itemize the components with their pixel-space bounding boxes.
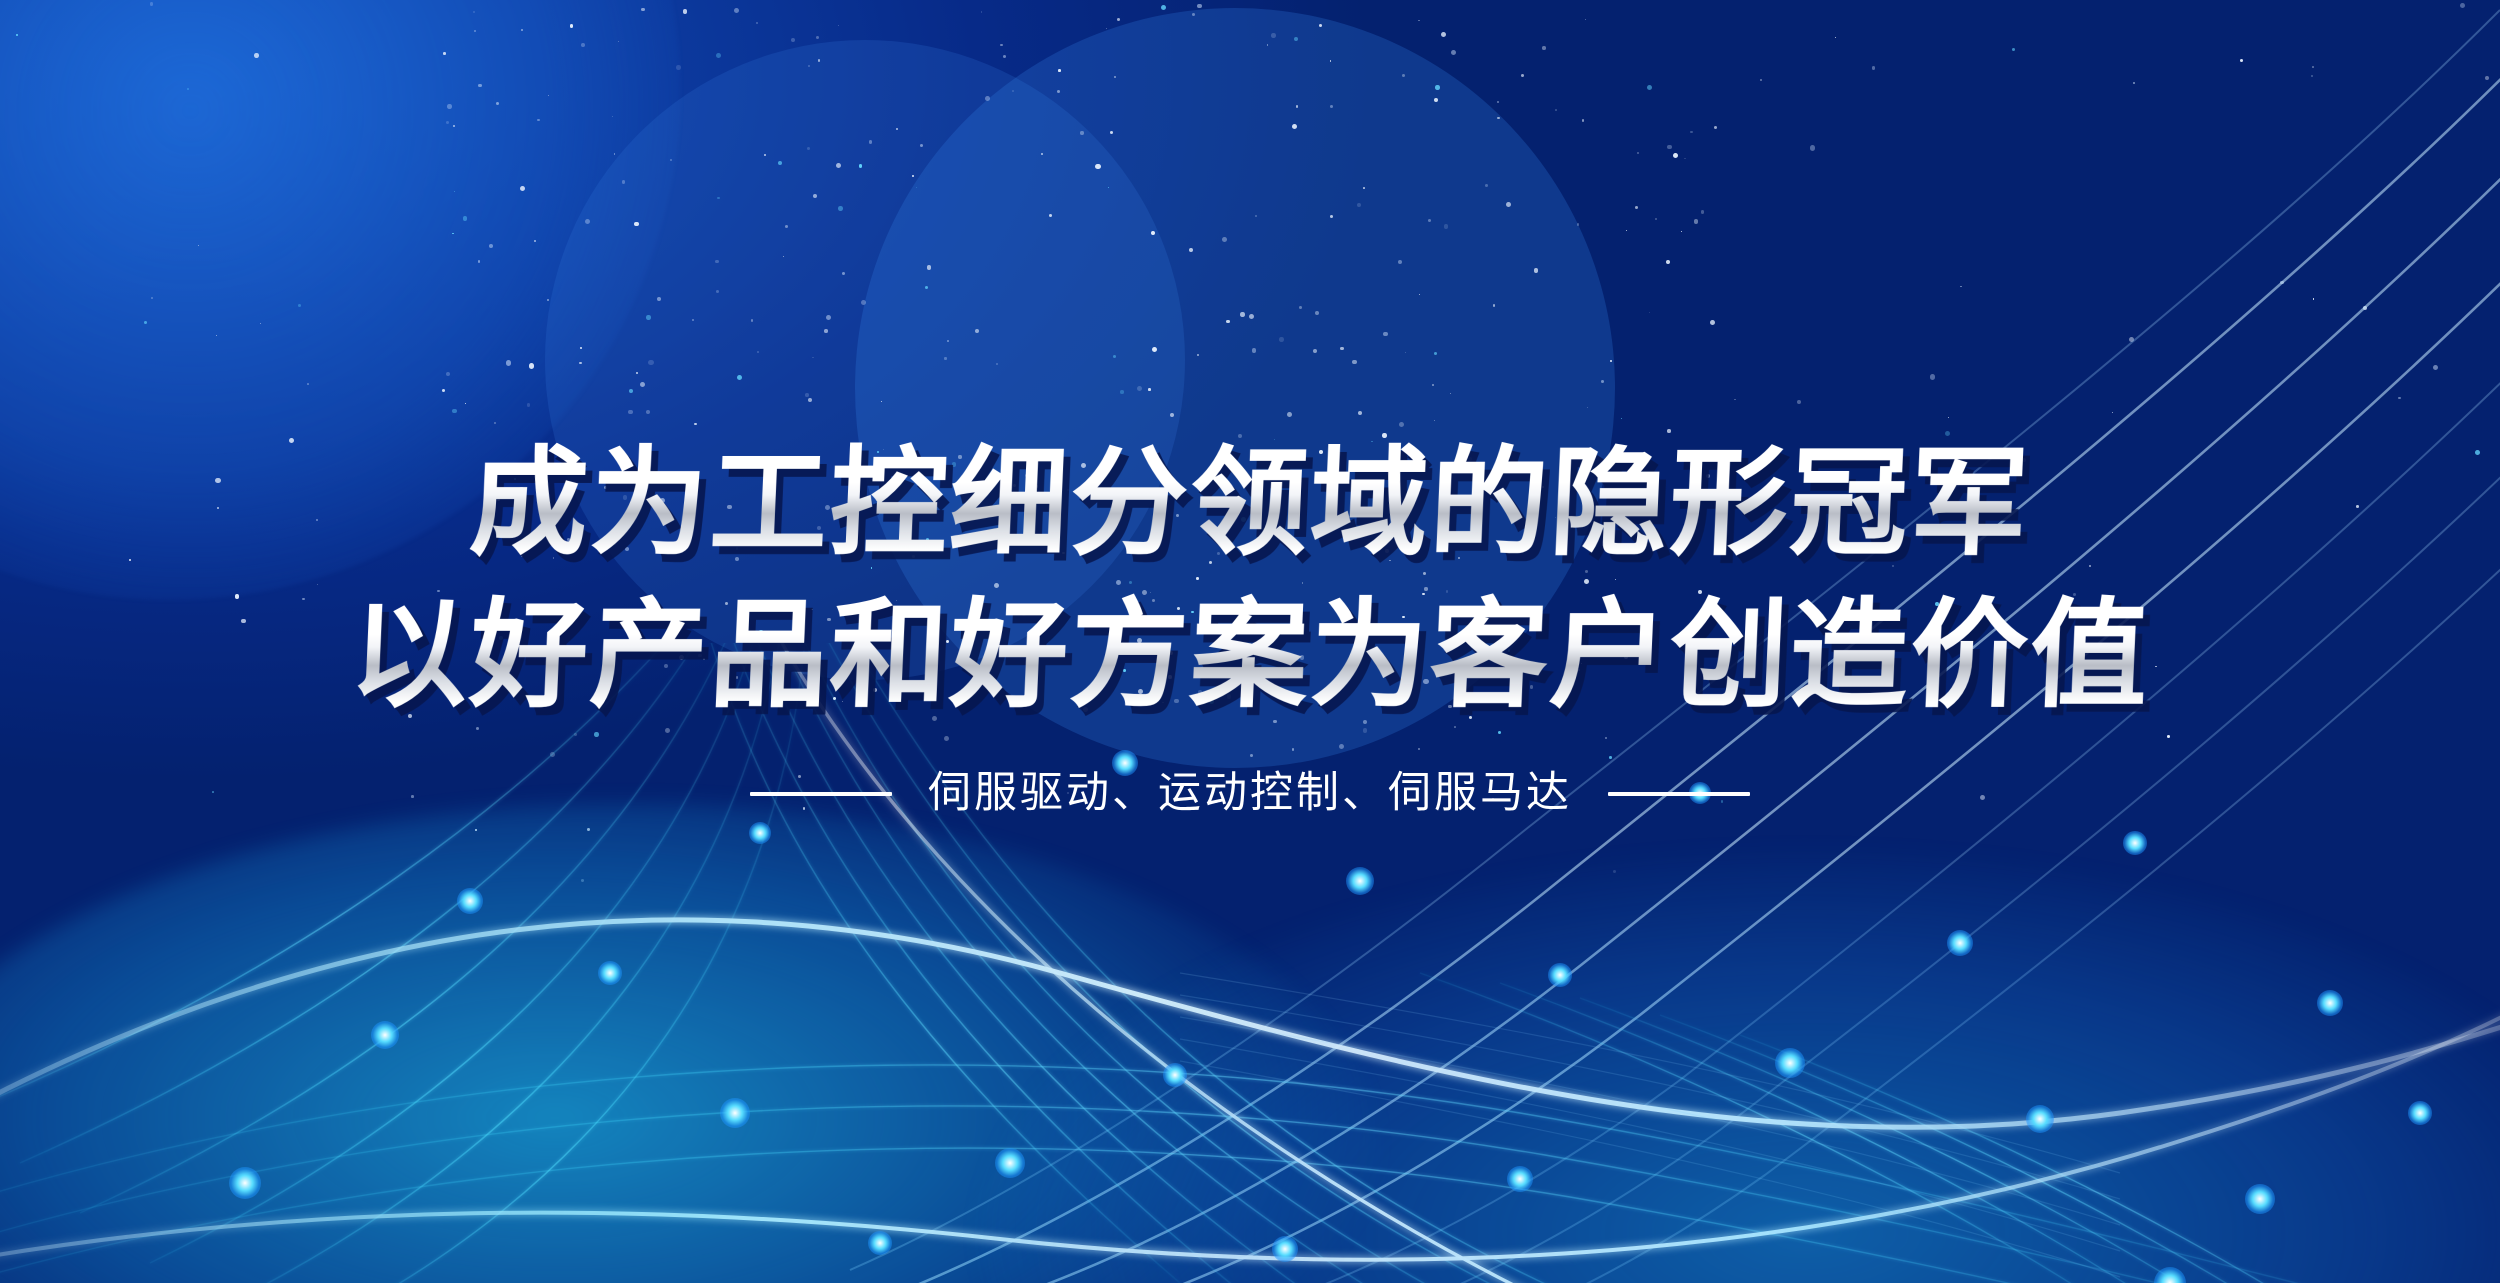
subtitle-text: 伺服驱动、运动控制、伺服马达 [928, 772, 1572, 815]
subtitle-rule-left [750, 792, 892, 796]
subtitle-rule-right [1608, 792, 1750, 796]
headline-line-1: 成为工控细分领域的隐形冠军 [467, 438, 2033, 568]
subtitle-row: 伺服驱动、运动控制、伺服马达 [750, 772, 1750, 815]
promo-banner: 成为工控细分领域的隐形冠军 以好产品和好方案为客户创造价值 伺服驱动、运动控制、… [0, 0, 2500, 1283]
banner-content: 成为工控细分领域的隐形冠军 以好产品和好方案为客户创造价值 伺服驱动、运动控制、… [0, 0, 2500, 1283]
headline-line-2: 以好产品和好方案为客户创造价值 [347, 590, 2153, 720]
